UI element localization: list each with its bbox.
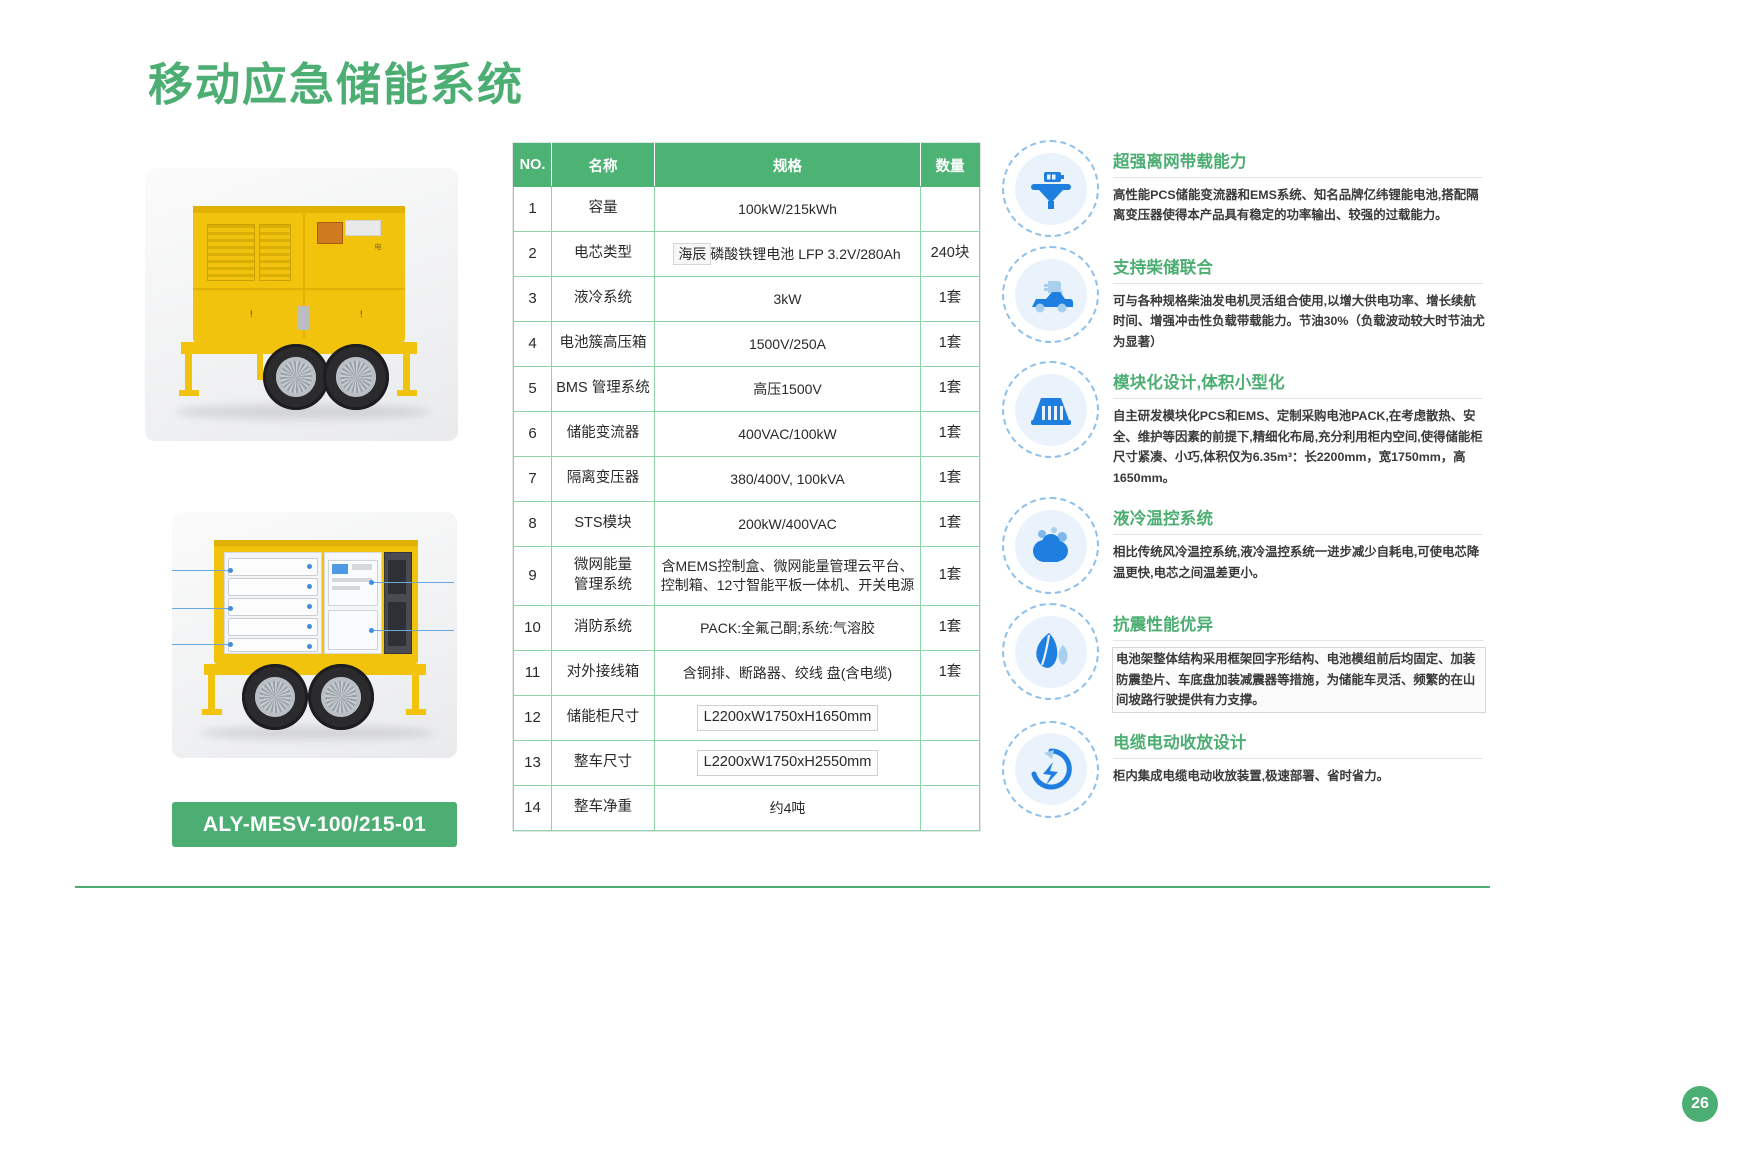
cell-name: 液冷系统 — [552, 277, 655, 322]
cell-spec: 100kW/215kWh — [655, 187, 921, 232]
feature-body: 自主研发模块化PCS和EMS、定制采购电池PACK,在考虑散热、安全、维护等因素… — [1113, 406, 1485, 488]
table-row: 4电池簇高压箱1500V/250A1套 — [514, 322, 980, 367]
cell-no: 14 — [514, 786, 552, 831]
cell-no: 13 — [514, 741, 552, 786]
feature-title: 超强离网带载能力 — [1113, 148, 1642, 172]
cell-name: 整车净重 — [552, 786, 655, 831]
feature-item: 超强离网带载能力 高性能PCS储能变流器和EMS系统、知名品牌亿纬锂能电池,搭配… — [1002, 140, 1642, 237]
table-row: 1容量100kW/215kWh — [514, 187, 980, 232]
table-row: 14整车净重约4吨 — [514, 786, 980, 831]
table-row: 6储能变流器400VAC/100kW1套 — [514, 412, 980, 457]
table-row: 11对外接线箱含铜排、断路器、绞线 盘(含电缆)1套 — [514, 651, 980, 696]
cell-qty: 1套 — [921, 412, 980, 457]
cell-no: 5 — [514, 367, 552, 412]
cable-reel-icon — [1002, 721, 1099, 818]
cell-spec: 约4吨 — [655, 786, 921, 831]
cell-qty — [921, 696, 980, 741]
cell-spec: 400VAC/100kW — [655, 412, 921, 457]
model-label-badge: ALY-MESV-100/215-01 — [172, 802, 457, 847]
product-photo-cutaway — [172, 512, 457, 758]
table-row: 7隔离变压器380/400V, 100kVA1套 — [514, 457, 980, 502]
table-row: 10消防系统PACK:全氟己酮;系统:气溶胶1套 — [514, 606, 980, 651]
cell-spec: 含铜排、断路器、绞线 盘(含电缆) — [655, 651, 921, 696]
cell-name: 储能柜尺寸 — [552, 696, 655, 741]
column-header-name: 名称 — [552, 144, 655, 187]
cell-spec: 380/400V, 100kVA — [655, 457, 921, 502]
feature-list: 超强离网带载能力 高性能PCS储能变流器和EMS系统、知名品牌亿纬锂能电池,搭配… — [1002, 140, 1642, 827]
cell-spec: 1500V/250A — [655, 322, 921, 367]
divider — [1113, 177, 1483, 178]
feature-title: 抗震性能优异 — [1113, 611, 1642, 635]
feature-item: 液冷温控系统 相比传统风冷温控系统,液冷温控系统一进步减少自耗电,可使电芯降温更… — [1002, 497, 1642, 594]
cell-no: 8 — [514, 502, 552, 547]
cell-spec: 200kW/400VAC — [655, 502, 921, 547]
cell-no: 9 — [514, 547, 552, 606]
feature-item: 电缆电动收放设计 柜内集成电缆电动收放装置,极速部署、省时省力。 — [1002, 721, 1642, 818]
cell-qty: 1套 — [921, 457, 980, 502]
slide-page: 移动应急储能系统 电 — [0, 0, 1764, 1172]
cell-qty: 1套 — [921, 277, 980, 322]
cell-qty — [921, 786, 980, 831]
cell-name: 电池簇高压箱 — [552, 322, 655, 367]
feature-body: 高性能PCS储能变流器和EMS系统、知名品牌亿纬锂能电池,搭配隔离变压器使得本产… — [1113, 185, 1485, 226]
feature-title: 电缆电动收放设计 — [1113, 729, 1642, 753]
cell-no: 2 — [514, 232, 552, 277]
cell-no: 12 — [514, 696, 552, 741]
footer-divider — [75, 886, 1490, 888]
column-header-no: NO. — [514, 144, 552, 187]
table-row: 13整车尺寸L2200xW1750xH2550mm — [514, 741, 980, 786]
divider — [1113, 398, 1483, 399]
cell-qty: 240块 — [921, 232, 980, 277]
divider — [1113, 640, 1483, 641]
cell-spec: 含MEMS控制盒、微网能量管理云平台、控制箱、12寸智能平板一体机、开关电源 — [655, 547, 921, 606]
cell-no: 10 — [514, 606, 552, 651]
cell-name: BMS 管理系统 — [552, 367, 655, 412]
cloud-cooling-icon — [1002, 497, 1099, 594]
cell-spec: 海辰磷酸铁锂电池 LFP 3.2V/280Ah — [655, 232, 921, 277]
battery-scale-icon — [1002, 140, 1099, 237]
cell-qty: 1套 — [921, 322, 980, 367]
cell-name: 电芯类型 — [552, 232, 655, 277]
cell-qty — [921, 741, 980, 786]
feature-title: 模块化设计,体积小型化 — [1113, 369, 1642, 393]
table-header-row: NO. 名称 规格 数量 — [514, 144, 980, 187]
feature-item: 抗震性能优异 电池架整体结构采用框架回字形结构、电池模组前后均固定、加装防震垫片… — [1002, 603, 1642, 711]
cell-name: 隔离变压器 — [552, 457, 655, 502]
module-rack-icon — [1002, 361, 1099, 458]
divider — [1113, 758, 1483, 759]
cell-no: 11 — [514, 651, 552, 696]
shock-leaf-icon — [1002, 603, 1099, 700]
divider — [1113, 283, 1483, 284]
product-photo-exterior: 电 — [145, 168, 458, 441]
feature-body: 可与各种规格柴油发电机灵活组合使用,以增大供电功率、增长续航时间、增强冲击性负载… — [1113, 291, 1485, 352]
cell-qty — [921, 187, 980, 232]
feature-body: 电池架整体结构采用框架回字形结构、电池模组前后均固定、加装防震垫片、车底盘加装减… — [1113, 648, 1485, 711]
page-number-badge: 26 — [1682, 1086, 1718, 1122]
column-header-spec: 规格 — [655, 144, 921, 187]
feature-item: 模块化设计,体积小型化 自主研发模块化PCS和EMS、定制采购电池PACK,在考… — [1002, 361, 1642, 488]
feature-title: 支持柴储联合 — [1113, 254, 1642, 278]
cell-no: 7 — [514, 457, 552, 502]
table-row: 9微网能量管理系统含MEMS控制盒、微网能量管理云平台、控制箱、12寸智能平板一… — [514, 547, 980, 606]
cell-qty: 1套 — [921, 606, 980, 651]
specification-table: NO. 名称 规格 数量 1容量100kW/215kWh2电芯类型海辰磷酸铁锂电… — [513, 143, 980, 831]
table-row: 5BMS 管理系统高压1500V1套 — [514, 367, 980, 412]
table-row: 12储能柜尺寸L2200xW1750xH1650mm — [514, 696, 980, 741]
table-row: 2电芯类型海辰磷酸铁锂电池 LFP 3.2V/280Ah240块 — [514, 232, 980, 277]
electric-car-icon — [1002, 246, 1099, 343]
cell-no: 3 — [514, 277, 552, 322]
cell-name: 储能变流器 — [552, 412, 655, 457]
cell-name: STS模块 — [552, 502, 655, 547]
table-row: 8STS模块200kW/400VAC1套 — [514, 502, 980, 547]
feature-item: 支持柴储联合 可与各种规格柴油发电机灵活组合使用,以增大供电功率、增长续航时间、… — [1002, 246, 1642, 352]
cell-qty: 1套 — [921, 547, 980, 606]
divider — [1113, 534, 1483, 535]
cell-no: 6 — [514, 412, 552, 457]
cell-spec: L2200xW1750xH2550mm — [655, 741, 921, 786]
cell-name: 消防系统 — [552, 606, 655, 651]
cell-spec: 高压1500V — [655, 367, 921, 412]
page-title: 移动应急储能系统 — [148, 48, 524, 113]
feature-title: 液冷温控系统 — [1113, 505, 1642, 529]
cell-qty: 1套 — [921, 367, 980, 412]
table-row: 3液冷系统3kW1套 — [514, 277, 980, 322]
column-header-qty: 数量 — [921, 144, 980, 187]
cell-name: 微网能量管理系统 — [552, 547, 655, 606]
feature-body: 相比传统风冷温控系统,液冷温控系统一进步减少自耗电,可使电芯降温更快,电芯之间温… — [1113, 542, 1485, 583]
cell-qty: 1套 — [921, 651, 980, 696]
cell-name: 整车尺寸 — [552, 741, 655, 786]
feature-body: 柜内集成电缆电动收放装置,极速部署、省时省力。 — [1113, 766, 1485, 786]
cell-spec: PACK:全氟己酮;系统:气溶胶 — [655, 606, 921, 651]
cell-qty: 1套 — [921, 502, 980, 547]
cell-no: 4 — [514, 322, 552, 367]
cell-name: 对外接线箱 — [552, 651, 655, 696]
cell-no: 1 — [514, 187, 552, 232]
cell-name: 容量 — [552, 187, 655, 232]
cell-spec: L2200xW1750xH1650mm — [655, 696, 921, 741]
cell-spec: 3kW — [655, 277, 921, 322]
